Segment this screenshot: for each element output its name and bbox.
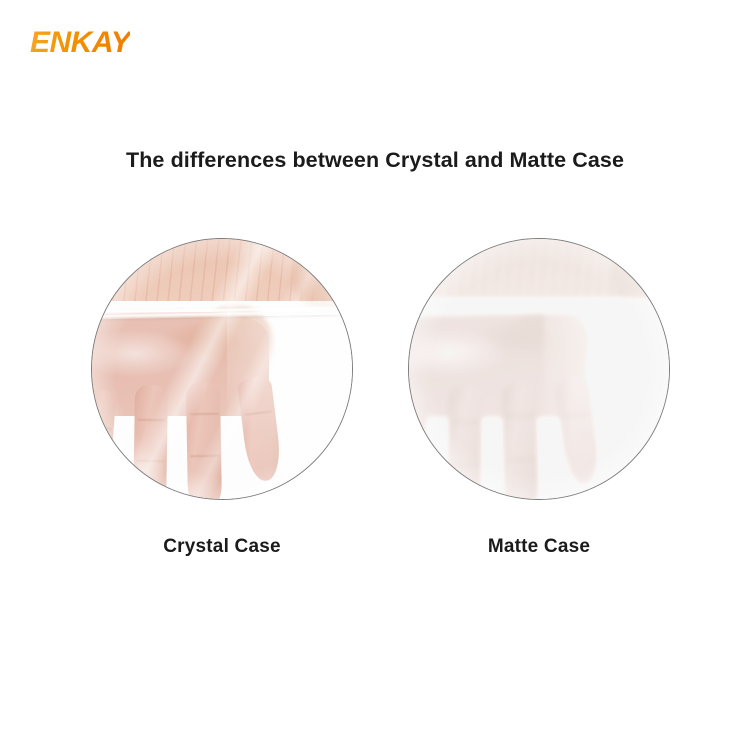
- finger-crease: [561, 412, 591, 418]
- finger-2: [132, 384, 167, 500]
- finger-3: [186, 382, 222, 500]
- finger-crease: [408, 429, 424, 433]
- finger-4: [554, 375, 602, 487]
- comparison-item-crystal: Crystal Case: [91, 238, 353, 558]
- hand-through-crystal-case-image: [92, 239, 352, 499]
- finger-crease: [450, 420, 479, 423]
- finger-crease: [190, 455, 219, 458]
- page-title: The differences between Crystal and Matt…: [0, 148, 750, 173]
- enkay-logo: ENKAY: [30, 28, 130, 58]
- finger-1: [408, 390, 429, 500]
- case-comparison: Crystal Case: [0, 238, 750, 578]
- hand-upper-band: [408, 238, 670, 299]
- caption-crystal-case: Crystal Case: [91, 536, 353, 558]
- finger-crease: [136, 460, 164, 462]
- finger-crease: [91, 466, 109, 470]
- finger-crease: [244, 411, 272, 416]
- crystal-case-photo: [91, 238, 353, 500]
- finger-crease: [189, 413, 218, 416]
- finger-crease: [505, 458, 535, 461]
- finger-1: [91, 389, 116, 500]
- finger-crease: [137, 418, 165, 420]
- finger-crease: [408, 470, 421, 474]
- caption-matte-case: Matte Case: [408, 536, 670, 558]
- finger-4: [237, 375, 283, 482]
- finger-crease: [91, 426, 111, 430]
- hand-through-matte-case-image: [408, 238, 670, 500]
- matte-case-photo: [408, 238, 670, 500]
- comparison-item-matte: Matte Case: [408, 238, 670, 558]
- finger-3: [501, 382, 539, 500]
- finger-2: [446, 385, 482, 500]
- finger-crease: [505, 415, 535, 418]
- finger-crease: [450, 463, 479, 466]
- brand-wordmark: ENKAY: [30, 26, 130, 59]
- hand-upper-band: [91, 238, 353, 301]
